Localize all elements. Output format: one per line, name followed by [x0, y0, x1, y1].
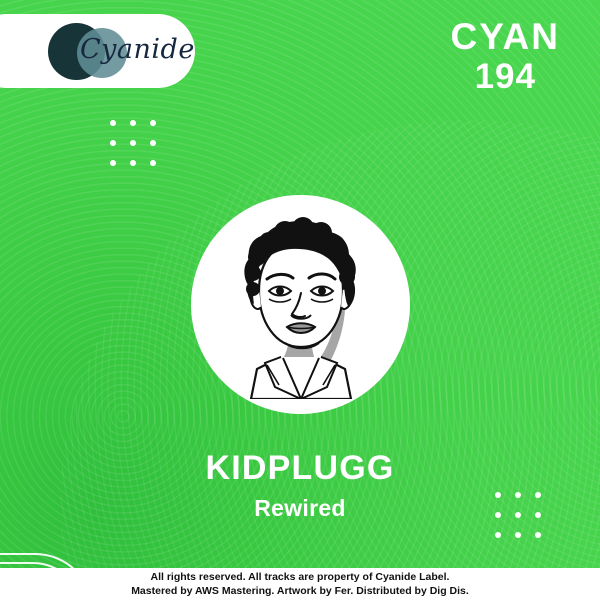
label-wordmark: Cyanide: [80, 34, 195, 65]
catalog-block: CYAN 194: [451, 18, 560, 96]
footer-line-credits: Mastered by AWS Mastering. Artwork by Fe…: [131, 584, 469, 598]
dot: [130, 120, 136, 126]
catalog-label: CYAN: [451, 18, 560, 56]
dot: [150, 140, 156, 146]
footer-line-rights: All rights reserved. All tracks are prop…: [151, 570, 450, 584]
dot: [130, 140, 136, 146]
dot: [535, 532, 541, 538]
dot: [110, 160, 116, 166]
release-titles: KIDPLUGG Rewired: [0, 450, 600, 522]
dot-grid-top-left: [110, 120, 156, 166]
dot: [130, 160, 136, 166]
dot: [495, 532, 501, 538]
artist-name: KIDPLUGG: [0, 450, 600, 487]
album-cover: Cyanide CYAN 194: [0, 0, 600, 600]
dot: [150, 120, 156, 126]
dot: [515, 532, 521, 538]
track-title: Rewired: [0, 495, 600, 522]
footer-bar: All rights reserved. All tracks are prop…: [0, 568, 600, 600]
dot: [150, 160, 156, 166]
portrait-illustration-icon: [205, 217, 397, 399]
dot: [110, 140, 116, 146]
dot: [110, 120, 116, 126]
catalog-number: 194: [451, 58, 560, 96]
label-logo-badge: Cyanide: [0, 14, 195, 88]
artwork-circle: [191, 195, 410, 414]
